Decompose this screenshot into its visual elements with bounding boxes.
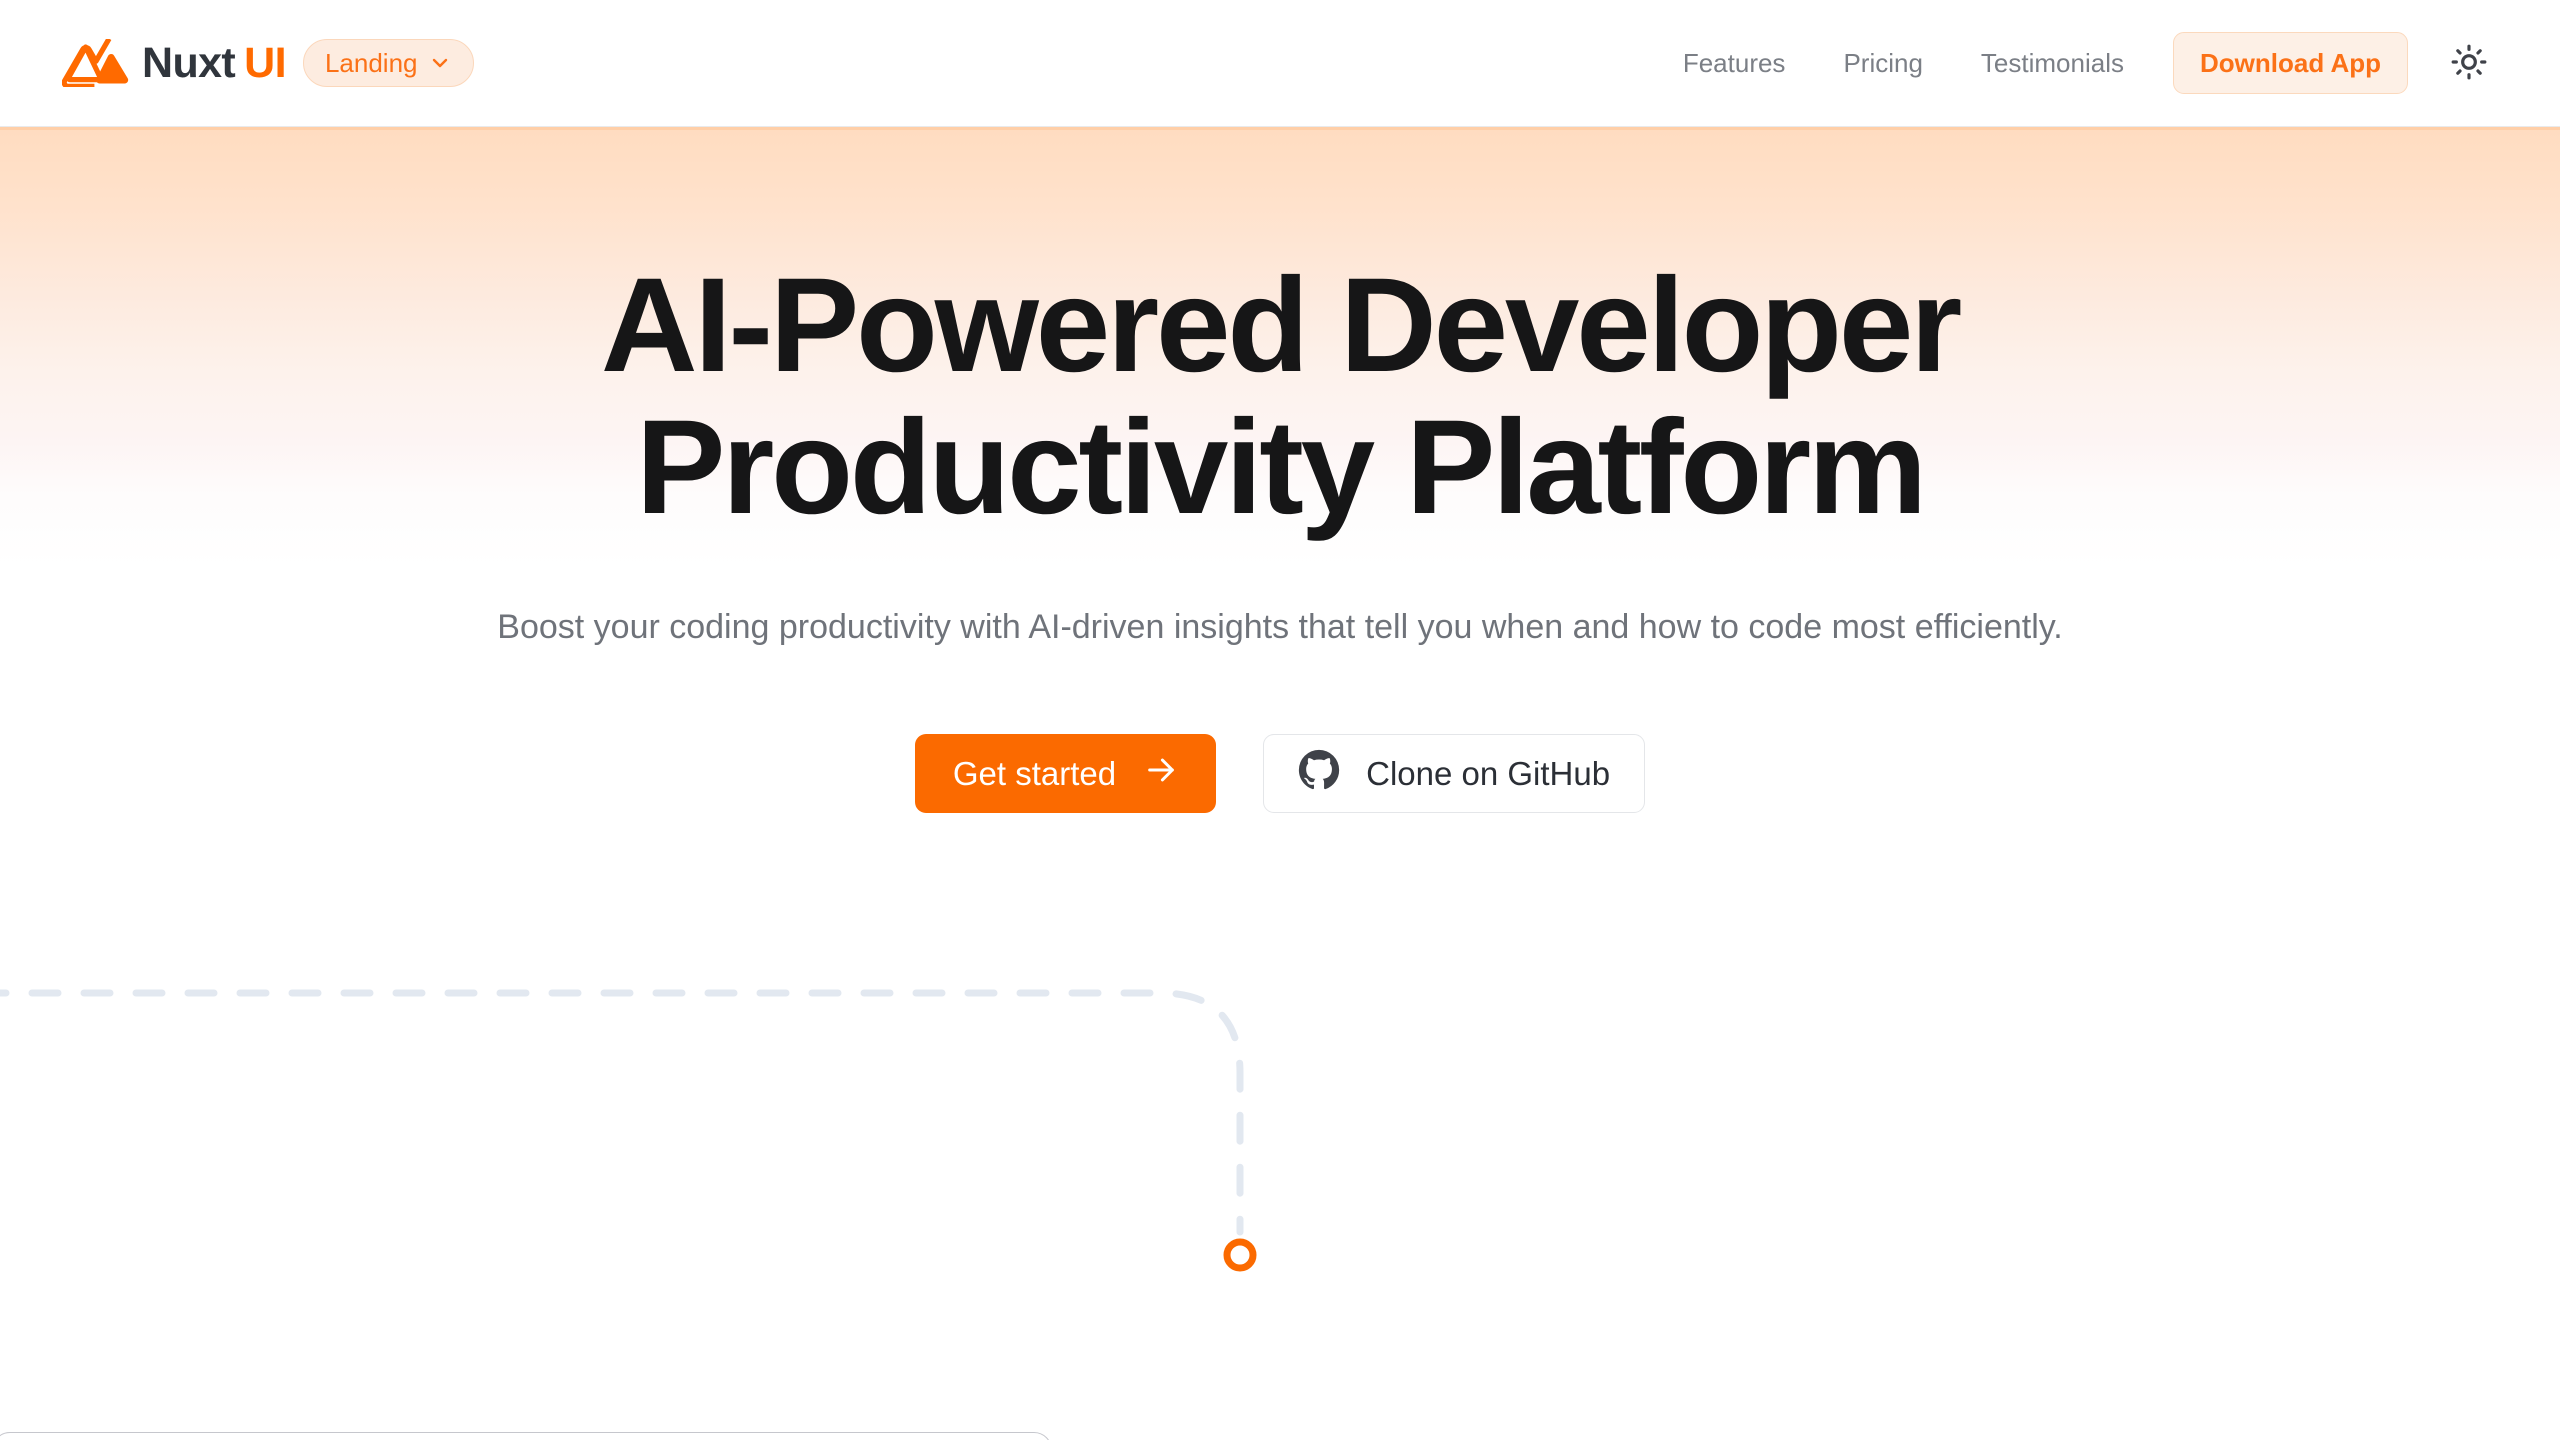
sun-icon [2450,43,2488,84]
hero-title-line-2: Productivity Platform [636,393,1924,542]
github-icon [1298,749,1340,799]
hero-subtitle: Boost your coding productivity with AI-d… [497,603,2062,652]
path-endpoint-marker [1227,1242,1253,1268]
logo-word-nuxt: Nuxt [142,42,235,85]
nuxt-mountain-logo-icon [62,39,130,87]
hero-title-line-1: AI-Powered Developer [601,251,1959,400]
theme-toggle-button[interactable] [2440,34,2498,92]
logo[interactable]: NuxtUI [62,39,286,87]
page-title: AI-Powered Developer Productivity Platfo… [601,255,1959,539]
get-started-label: Get started [953,755,1116,793]
brand[interactable]: NuxtUI Landing [62,39,474,87]
logo-word-ui: UI [244,42,286,85]
landing-page: NuxtUI Landing Features Pricing Testimon… [0,0,2560,1440]
clone-on-github-button[interactable]: Clone on GitHub [1263,734,1645,813]
main-navigation: Features Pricing Testimonials Download A… [1654,32,2498,94]
get-started-button[interactable]: Get started [915,734,1216,813]
dashed-connector-path [0,940,2560,1340]
hero-cta-group: Get started Clone on GitHub [915,734,1645,813]
logo-wordmark: NuxtUI [142,42,286,85]
bottom-feature-card[interactable] [0,1432,1052,1440]
nav-link-pricing[interactable]: Pricing [1814,50,1951,76]
clone-github-label: Clone on GitHub [1366,755,1610,793]
hero-section: AI-Powered Developer Productivity Platfo… [0,127,2560,813]
nav-link-testimonials[interactable]: Testimonials [1952,50,2153,76]
chevron-down-icon [428,51,452,75]
landing-badge-label: Landing [325,48,418,79]
nav-link-features[interactable]: Features [1654,50,1815,76]
download-app-button[interactable]: Download App [2173,32,2408,94]
site-header: NuxtUI Landing Features Pricing Testimon… [0,0,2560,127]
arrow-right-icon [1144,753,1178,795]
landing-dropdown-badge[interactable]: Landing [303,39,474,87]
